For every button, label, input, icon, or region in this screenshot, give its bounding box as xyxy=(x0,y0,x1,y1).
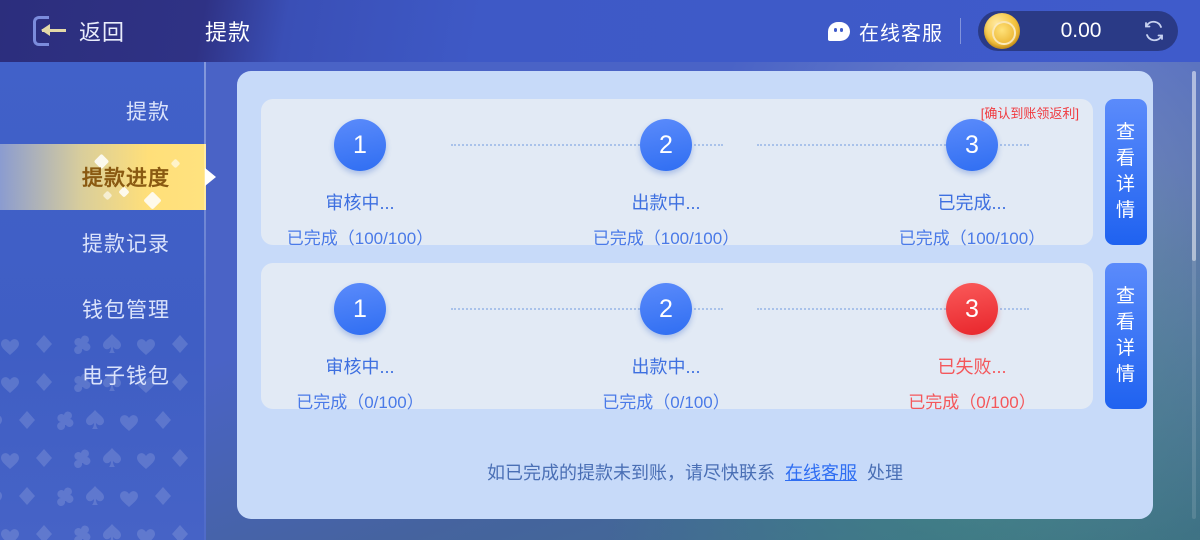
active-pointer-icon xyxy=(205,168,216,186)
sidebar-item-withdraw-progress[interactable]: 提款进度 xyxy=(0,144,206,210)
header-divider xyxy=(960,18,961,44)
sidebar-item-label: 提款进度 xyxy=(82,162,170,192)
back-button[interactable]: 返回 xyxy=(0,15,205,47)
step-track: 1 审核中... 已完成（0/100） 2 出款中... 已完成（0/100） … xyxy=(261,263,1093,409)
view-detail-button[interactable]: 查 看 详 情 xyxy=(1105,99,1147,245)
view-detail-char: 情 xyxy=(1116,362,1136,388)
sidebar-edge-line xyxy=(204,62,206,540)
footer-customer-service-link[interactable]: 在线客服 xyxy=(785,463,857,483)
sidebar-item-e-wallet[interactable]: 电子钱包 xyxy=(0,342,206,408)
step-title: 出款中... xyxy=(581,353,751,379)
view-detail-char: 查 xyxy=(1116,120,1136,146)
back-arrow-icon xyxy=(33,16,67,46)
refresh-icon[interactable] xyxy=(1142,19,1166,43)
step-status: 已完成（100/100） xyxy=(275,224,445,249)
step-number-badge: 1 xyxy=(334,119,386,171)
step-number-badge: 2 xyxy=(640,119,692,171)
step-number-badge: 3 xyxy=(946,283,998,335)
step-title: 已失败... xyxy=(887,353,1057,379)
sidebar-item-wallet-management[interactable]: 钱包管理 xyxy=(0,276,206,342)
footer-note-suffix: 处理 xyxy=(867,463,903,483)
footer-note-prefix: 如已完成的提款未到账，请尽快联系 xyxy=(487,463,775,483)
step-number-badge: 2 xyxy=(640,283,692,335)
view-detail-char: 看 xyxy=(1116,146,1136,172)
page-scrollbar[interactable] xyxy=(1192,71,1196,519)
step-number-badge: 3 xyxy=(946,119,998,171)
balance-amount: 0.00 xyxy=(1020,19,1142,43)
step-status: 已完成（100/100） xyxy=(581,224,751,249)
sidebar-item-label: 提款记录 xyxy=(82,228,170,258)
scrollbar-thumb[interactable] xyxy=(1192,71,1196,261)
progress-step: 3 已失败... 已完成（0/100） xyxy=(887,283,1057,413)
sidebar-item-label: 钱包管理 xyxy=(82,294,170,324)
view-detail-button[interactable]: 查 看 详 情 xyxy=(1105,263,1147,409)
step-number-badge: 1 xyxy=(334,283,386,335)
step-track: 1 审核中... 已完成（100/100） 2 出款中... 已完成（100/1… xyxy=(261,99,1093,245)
sidebar-item-label: 提款 xyxy=(126,96,170,126)
step-status: 已完成（0/100） xyxy=(581,388,751,413)
balance-pill[interactable]: 0.00 xyxy=(978,11,1178,51)
withdraw-progress-card: 1 审核中... 已完成（100/100） 2 出款中... 已完成（100/1… xyxy=(261,99,1093,245)
page-title: 提款 xyxy=(205,15,251,47)
footer-note: 如已完成的提款未到账，请尽快联系 在线客服 处理 xyxy=(237,459,1153,485)
coin-icon xyxy=(984,13,1020,49)
app-header: 返回 提款 在线客服 0.00 xyxy=(0,0,1200,62)
step-title: 审核中... xyxy=(275,353,445,379)
sidebar-item-list: 提款 提款进度 提款记录 钱包管理 电子钱包 xyxy=(0,62,206,408)
sidebar-item-withdraw[interactable]: 提款 xyxy=(0,78,206,144)
progress-step: 2 出款中... 已完成（0/100） xyxy=(581,283,751,413)
rebate-badge[interactable]: [确认到账领返利] xyxy=(981,103,1079,122)
step-status: 已完成（0/100） xyxy=(887,388,1057,413)
progress-step: 3 已完成... 已完成（100/100） xyxy=(887,119,1057,249)
header-right-group: 在线客服 0.00 xyxy=(828,11,1200,51)
view-detail-char: 详 xyxy=(1116,172,1136,198)
back-button-label: 返回 xyxy=(79,15,125,47)
customer-service-label: 在线客服 xyxy=(859,17,943,46)
chat-bubble-icon xyxy=(828,22,850,41)
sidebar-item-withdraw-records[interactable]: 提款记录 xyxy=(0,210,206,276)
step-status: 已完成（100/100） xyxy=(887,224,1057,249)
view-detail-char: 查 xyxy=(1116,284,1136,310)
view-detail-char: 看 xyxy=(1116,310,1136,336)
step-title: 审核中... xyxy=(275,189,445,215)
main-panel: 1 审核中... 已完成（100/100） 2 出款中... 已完成（100/1… xyxy=(237,71,1153,519)
step-title: 出款中... xyxy=(581,189,751,215)
step-status: 已完成（0/100） xyxy=(275,388,445,413)
view-detail-char: 情 xyxy=(1116,198,1136,224)
progress-step: 1 审核中... 已完成（0/100） xyxy=(275,283,445,413)
customer-service-button[interactable]: 在线客服 xyxy=(828,17,943,46)
progress-step: 2 出款中... 已完成（100/100） xyxy=(581,119,751,249)
sidebar: 提款 提款进度 提款记录 钱包管理 电子钱包 xyxy=(0,62,206,540)
progress-step: 1 审核中... 已完成（100/100） xyxy=(275,119,445,249)
view-detail-char: 详 xyxy=(1116,336,1136,362)
withdraw-progress-card: 1 审核中... 已完成（0/100） 2 出款中... 已完成（0/100） … xyxy=(261,263,1093,409)
step-title: 已完成... xyxy=(887,189,1057,215)
sidebar-item-label: 电子钱包 xyxy=(82,360,170,390)
